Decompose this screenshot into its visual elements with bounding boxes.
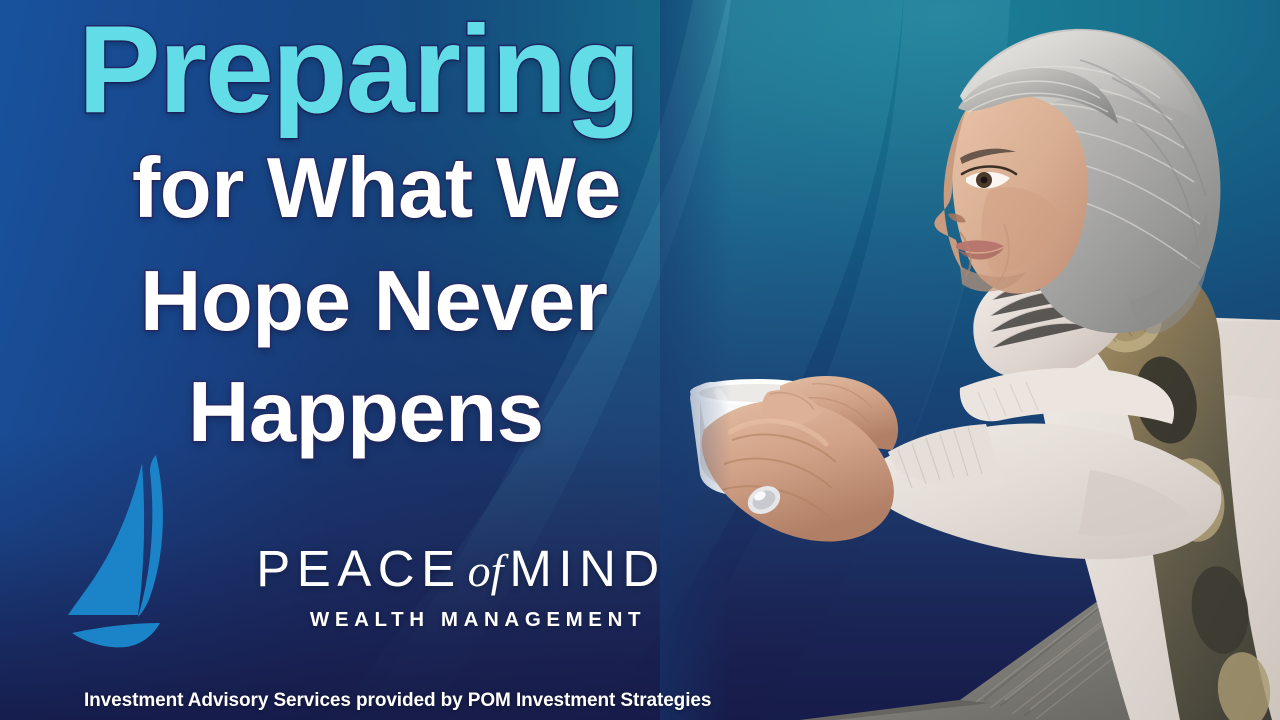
title-block: Preparing for What We Hope Never Happens xyxy=(70,8,770,455)
brand-logo: PEACEofMIND WEALTH MANAGEMENT xyxy=(66,448,736,678)
face-profile xyxy=(934,95,1088,294)
brand-word-of: of xyxy=(462,545,510,596)
slide-canvas: Preparing for What We Hope Never Happens… xyxy=(0,0,1280,720)
title-line-2: for What We xyxy=(132,146,770,231)
disclaimer-text: Investment Advisory Services provided by… xyxy=(84,690,711,712)
disclaimer-clip: Investment Advisory Services provided by… xyxy=(0,678,756,720)
title-line-1: Preparing xyxy=(78,8,770,132)
forearm-sleeve xyxy=(864,368,1221,559)
brand-tagline: WEALTH MANAGEMENT xyxy=(186,608,736,632)
title-line-3: Hope Never xyxy=(140,259,770,344)
sailboat-icon xyxy=(66,445,186,660)
title-line-4: Happens xyxy=(188,370,770,455)
brand-wordmark: PEACEofMIND WEALTH MANAGEMENT xyxy=(186,543,736,632)
brand-word-mind: MIND xyxy=(509,540,665,597)
brand-name: PEACEofMIND xyxy=(186,543,736,594)
brand-word-peace: PEACE xyxy=(256,540,461,597)
